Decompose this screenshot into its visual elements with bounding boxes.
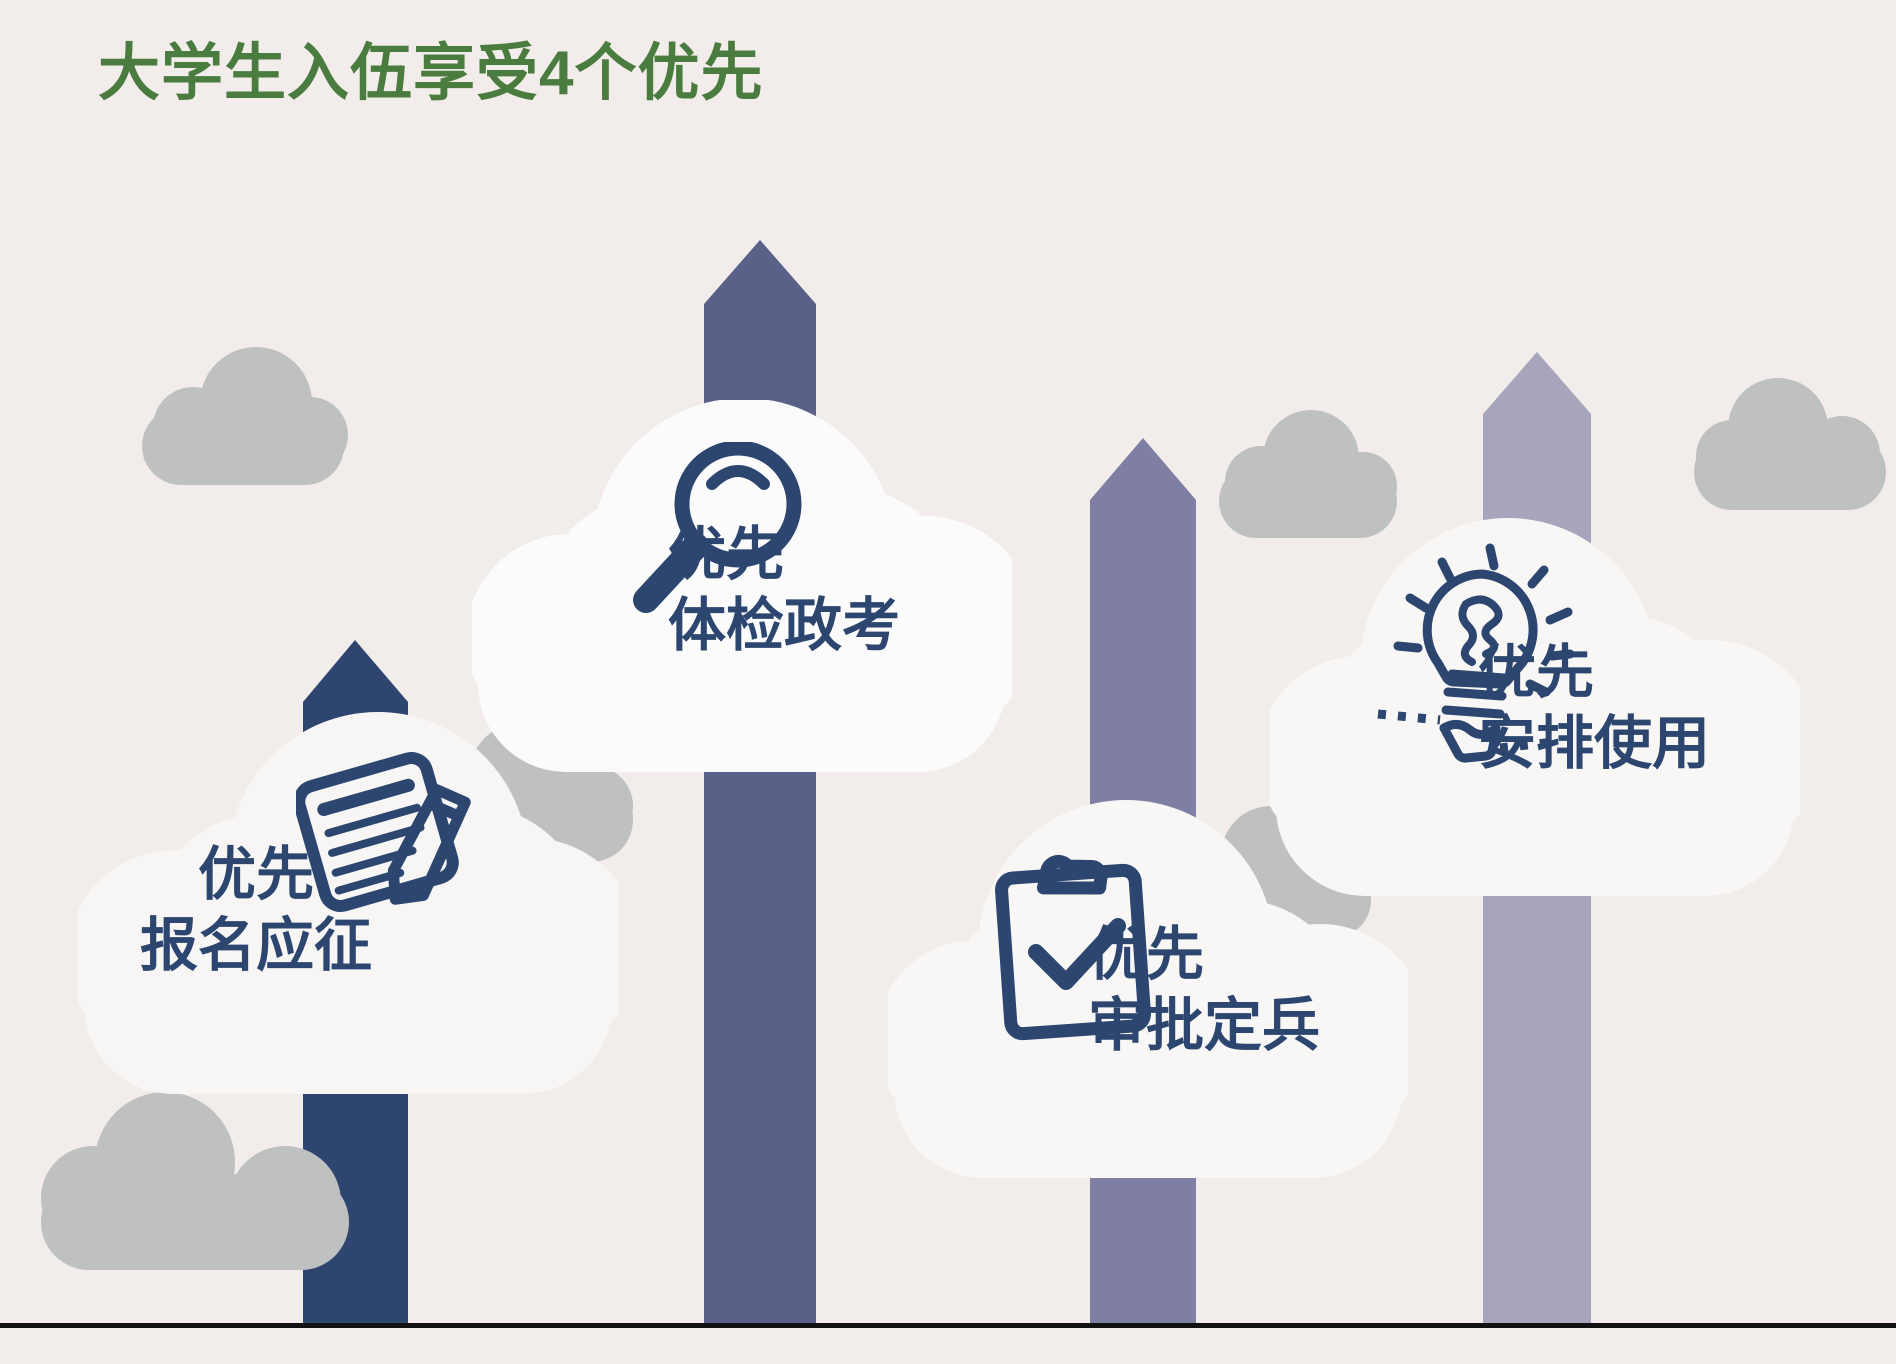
feature-line2: 体检政考 xyxy=(668,591,900,662)
gray-cloud-top-right xyxy=(1690,378,1890,510)
feature-line2: 安排使用 xyxy=(1478,709,1710,780)
baseline-divider xyxy=(0,1323,1896,1328)
feature-label-approval-assignment: 优先 审批定兵 xyxy=(1088,920,1320,1062)
feature-cloud-enlist-registration[interactable]: 优先 报名应征 xyxy=(78,712,618,1094)
feature-line1: 优先 xyxy=(198,840,372,911)
gray-cloud-bottom-left xyxy=(35,1090,355,1270)
feature-line2: 报名应征 xyxy=(140,911,372,982)
feature-line2: 审批定兵 xyxy=(1088,991,1320,1062)
feature-line1: 优先 xyxy=(1478,638,1710,709)
feature-label-medical-political-exam: 优先 体检政考 xyxy=(668,520,900,662)
feature-label-deployment-use: 优先 安排使用 xyxy=(1478,638,1710,780)
infographic-canvas: 大学生入伍享受4个优先 xyxy=(0,0,1896,1364)
feature-line1: 优先 xyxy=(1088,920,1320,991)
feature-line1: 优先 xyxy=(668,520,900,591)
feature-label-enlist-registration: 优先 报名应征 xyxy=(140,840,372,982)
gray-cloud-top-left xyxy=(138,345,348,485)
feature-cloud-approval-assignment[interactable]: 优先 审批定兵 xyxy=(888,800,1408,1178)
page-title: 大学生入伍享受4个优先 xyxy=(98,40,763,108)
